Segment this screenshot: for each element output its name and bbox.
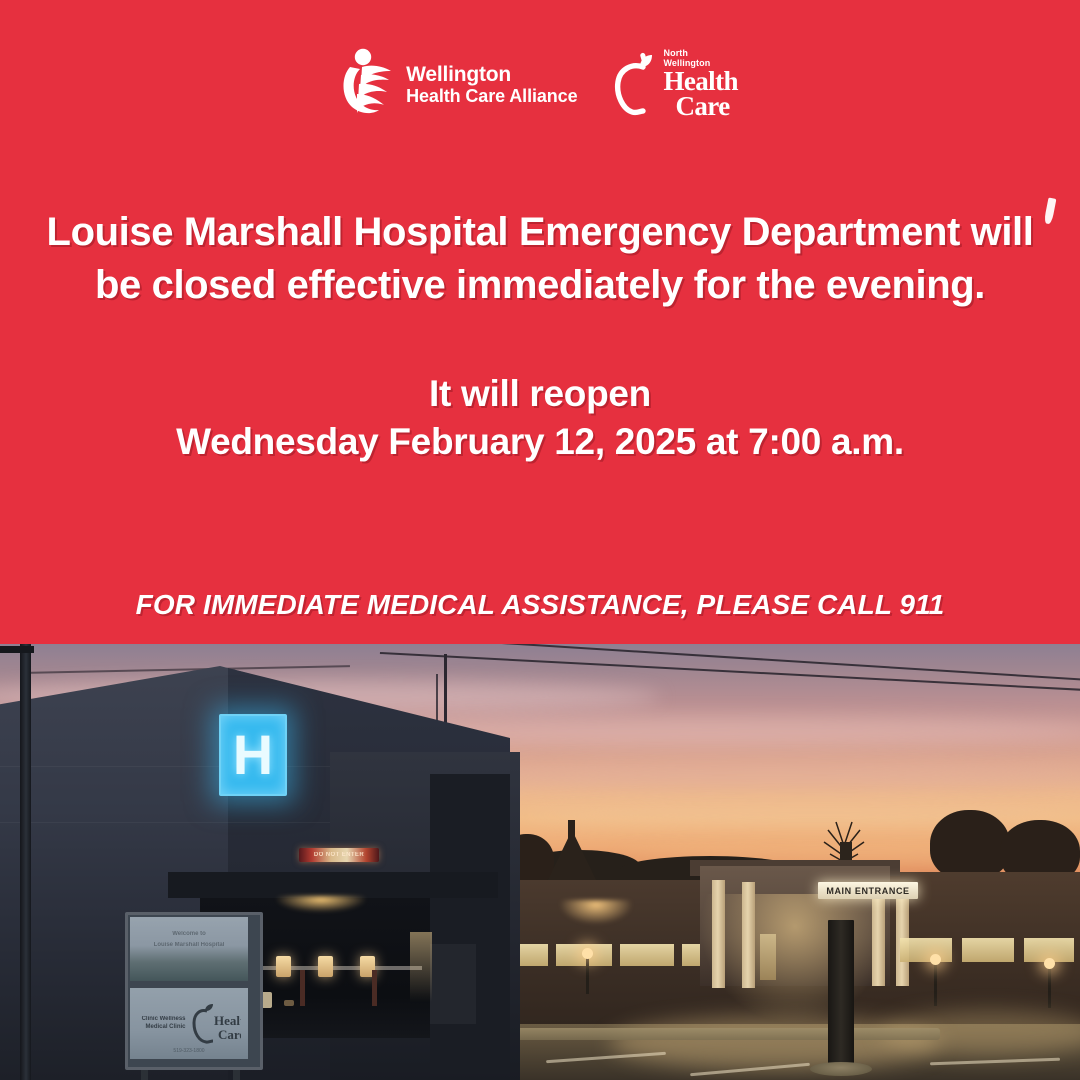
emergency-call-line: FOR IMMEDIATE MEDICAL ASSISTANCE, PLEASE… <box>0 589 1080 621</box>
reopen-line-2: Wednesday February 12, 2025 at 7:00 a.m. <box>0 418 1080 466</box>
lamp-globe <box>582 948 593 959</box>
ground-sign-welcome-line2: Louise Marshall Hospital <box>130 942 248 948</box>
hospital-closure-notice-poster: Wellington Health Care Alliance North <box>0 0 1080 1080</box>
lit-window <box>962 938 1014 962</box>
ground-sign-clinic-line1: Clinic Wellness <box>142 1016 186 1022</box>
do-not-enter-sign: DO NOT ENTER <box>299 848 379 862</box>
bay-light <box>318 956 333 977</box>
ground-sign-clinic-line2: Medical Clinic <box>145 1024 185 1030</box>
ground-sign-top-panel: Welcome to Louise Marshall Hospital <box>130 917 248 981</box>
hospital-exterior-photo: MAIN ENTRANCE H <box>0 644 1080 1080</box>
lamp-globe <box>1044 958 1055 969</box>
apple-outline-icon <box>612 51 660 117</box>
entrance-pillar <box>828 920 854 1066</box>
utility-pole <box>20 644 31 1080</box>
lamp-post <box>586 956 589 994</box>
bay-light <box>276 956 291 977</box>
lit-window <box>900 938 952 962</box>
canopy-light-glow <box>276 896 366 912</box>
ground-sign-health-care-logo: Health Care <box>191 1003 241 1045</box>
wellington-logo-line2: Health Care Alliance <box>406 87 577 105</box>
drive-canopy <box>168 872 498 898</box>
curb-marker <box>284 1000 294 1006</box>
hospital-h-sign: H <box>219 714 287 796</box>
closure-headline: Louise Marshall Hospital Emergency Depar… <box>0 206 1080 312</box>
wellington-health-care-alliance-logo: Wellington Health Care Alliance <box>342 47 577 121</box>
soffit-lamp-glow <box>560 900 632 924</box>
roof-chimney <box>568 820 575 846</box>
main-entrance-sign: MAIN ENTRANCE <box>818 882 918 899</box>
lit-window <box>620 944 674 966</box>
entrance-light-glow <box>700 894 890 1024</box>
lamp-post <box>934 962 937 1006</box>
svg-text:Health: Health <box>214 1013 241 1028</box>
north-wellington-wordmark: North Wellington Health Care <box>664 49 738 119</box>
lamp-post <box>1048 966 1051 1008</box>
lamp-globe <box>930 954 941 965</box>
notice-panel: Wellington Health Care Alliance North <box>0 0 1080 644</box>
wellington-wordmark: Wellington Health Care Alliance <box>406 64 577 105</box>
main-entrance-sign-text: MAIN ENTRANCE <box>826 886 909 896</box>
tree-silhouette <box>930 810 1010 880</box>
nwhc-logo-care: Care <box>676 94 738 119</box>
logo-bar: Wellington Health Care Alliance North <box>0 40 1080 128</box>
portico-column <box>712 880 725 988</box>
bay-bollard <box>300 970 305 1006</box>
utility-pole-crossarm <box>0 646 34 653</box>
bay-doorway <box>430 944 476 1024</box>
curb <box>470 1028 940 1040</box>
ground-sign-caption: 519-323-1800 <box>130 1048 248 1054</box>
bay-bollard <box>372 970 377 1006</box>
bay-wall-light <box>410 932 432 1002</box>
do-not-enter-sign-text: DO NOT ENTER <box>299 848 379 862</box>
hospital-block-shadowside <box>430 774 510 1074</box>
lit-window <box>760 934 776 980</box>
caring-hands-figure-icon <box>342 47 398 121</box>
lit-window <box>682 944 700 966</box>
hospital-ground-sign: Welcome to Louise Marshall Hospital Clin… <box>125 912 257 1074</box>
wellington-logo-line1: Wellington <box>406 64 577 85</box>
hospital-h-letter: H <box>233 727 273 783</box>
north-wellington-health-care-logo: North Wellington Health Care <box>612 49 738 119</box>
portico-column <box>742 882 755 988</box>
entrance-pillar-base <box>810 1062 872 1076</box>
portico-column <box>896 884 909 986</box>
svg-text:Care: Care <box>218 1027 241 1042</box>
reopen-line-1: It will reopen <box>0 370 1080 418</box>
ground-sign-clinic-text: Clinic Wellness Medical Clinic <box>138 1016 186 1031</box>
ground-sign-welcome-line1: Welcome to <box>130 931 248 937</box>
